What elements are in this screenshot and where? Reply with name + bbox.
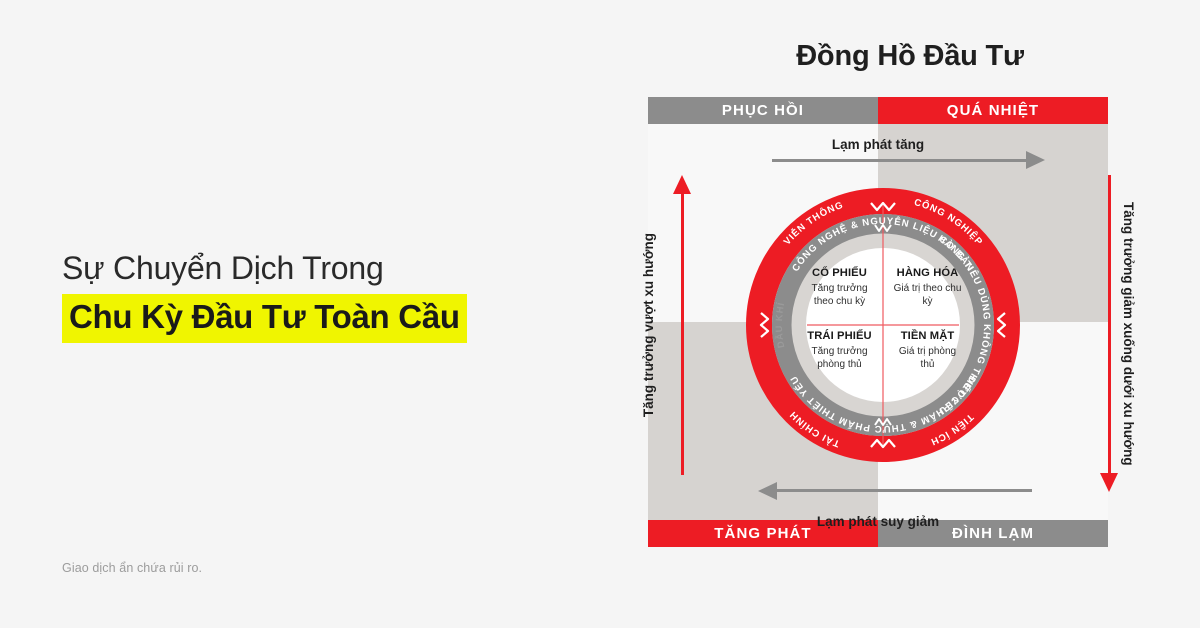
center-quadrant-commodities: HÀNG HÓA Giá trị theo chu kỳ bbox=[893, 267, 962, 308]
label-bar-overheat: QUÁ NHIỆT bbox=[878, 97, 1108, 124]
center-quadrant-subtitle: Tăng trưởng theo chu kỳ bbox=[805, 282, 874, 308]
top-arrow-line bbox=[772, 159, 1028, 162]
label-recovery: PHỤC HỒI bbox=[722, 102, 804, 119]
top-arrow-head-icon bbox=[1026, 151, 1045, 169]
center-quadrant-subtitle: Giá trị phòng thủ bbox=[893, 345, 962, 371]
center-quadrant-title: HÀNG HÓA bbox=[893, 267, 962, 279]
center-quadrant-title: TRÁI PHIẾU bbox=[805, 330, 874, 342]
center-quadrant-title: TIỀN MẶT bbox=[893, 330, 962, 342]
headline-highlight-wrap: Chu Kỳ Đầu Tư Toàn Cầu bbox=[62, 294, 467, 343]
axis-label-inflation-rising: Lạm phát tăng bbox=[648, 137, 1108, 152]
chart-panel: Đồng Hồ Đầu Tư PHỤC HỒI QUÁ NHIỆT TĂNG P… bbox=[620, 0, 1200, 628]
disclaimer-text: Giao dịch ẩn chứa rủi ro. bbox=[62, 561, 202, 575]
right-arrow-line bbox=[1108, 175, 1111, 475]
investment-clock-chart: PHỤC HỒI QUÁ NHIỆT TĂNG PHÁT ĐÌNH LẠM Lạ… bbox=[648, 97, 1108, 547]
headline-line-2: Chu Kỳ Đầu Tư Toàn Cầu bbox=[62, 294, 467, 343]
center-quadrant-cash: TIỀN MẶT Giá trị phòng thủ bbox=[893, 330, 962, 371]
axis-label-growth-above-trend: Tăng trưởng vượt xu hướng bbox=[641, 233, 656, 417]
label-overheat: QUÁ NHIỆT bbox=[947, 102, 1039, 119]
chart-title: Đồng Hồ Đầu Tư bbox=[620, 40, 1200, 73]
right-arrow-head-icon bbox=[1100, 473, 1118, 492]
bottom-arrow-line bbox=[776, 489, 1032, 492]
left-arrow-head-icon bbox=[673, 175, 691, 194]
left-arrow-line bbox=[681, 191, 684, 475]
headline-block: Sự Chuyển Dịch Trong Chu Kỳ Đầu Tư Toàn … bbox=[62, 248, 562, 343]
center-quadrant-subtitle: Giá trị theo chu kỳ bbox=[893, 282, 962, 308]
left-panel: Sự Chuyển Dịch Trong Chu Kỳ Đầu Tư Toàn … bbox=[0, 0, 620, 628]
bottom-arrow-head-icon bbox=[758, 482, 777, 500]
axis-label-inflation-falling: Lạm phát suy giảm bbox=[648, 514, 1108, 529]
axis-label-growth-below-trend: Tăng trưởng giảm xuống dưới xu hướng bbox=[1121, 202, 1136, 466]
headline-line-1: Sự Chuyển Dịch Trong bbox=[62, 248, 562, 288]
center-quadrant-labels: CỔ PHIẾU Tăng trưởng theo chu kỳ HÀNG HÓ… bbox=[743, 185, 1023, 465]
center-quadrant-title: CỔ PHIẾU bbox=[805, 267, 874, 279]
center-quadrant-subtitle: Tăng trưởng phòng thủ bbox=[805, 345, 874, 371]
axis-right-group: Tăng trưởng giảm xuống dưới xu hướng bbox=[1097, 175, 1136, 493]
axis-left-group: Tăng trưởng vượt xu hướng bbox=[641, 175, 656, 475]
label-bar-recovery: PHỤC HỒI bbox=[648, 97, 878, 124]
center-quadrant-bonds: TRÁI PHIẾU Tăng trưởng phòng thủ bbox=[805, 330, 874, 371]
center-quadrant-equities: CỔ PHIẾU Tăng trưởng theo chu kỳ bbox=[805, 267, 874, 308]
